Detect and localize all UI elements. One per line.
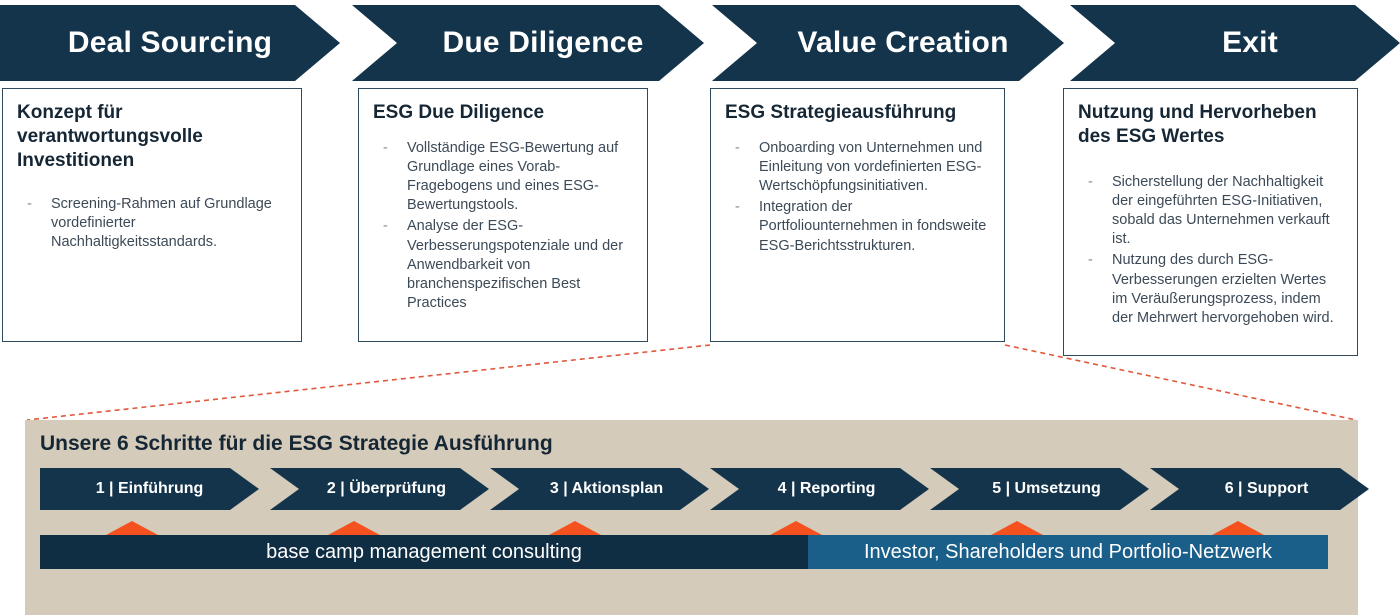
info-box-title: Konzept für verantwortungsvolle Investit…	[17, 101, 287, 173]
step-label: 2 | Überprüfung	[327, 480, 446, 498]
info-box-bullet-list: Sicherstellung der Nachhaltigkeit der ei…	[1078, 173, 1343, 328]
actor-label: base camp management consulting	[266, 541, 582, 564]
step-label: 6 | Support	[1225, 480, 1309, 498]
info-box-title: ESG Strategieausführung	[725, 101, 990, 125]
phase-label: Value Creation	[797, 26, 1008, 60]
phase-label: Deal Sourcing	[68, 26, 272, 60]
info-box-esg-strategieausfuehrung: ESG Strategieausführung Onboarding von U…	[710, 88, 1005, 342]
bullet-item: Integration der Portfoliounternehmen in …	[725, 198, 990, 255]
bullet-item: Analyse der ESG-Verbesserungspotenziale …	[373, 217, 633, 313]
step-label: 1 | Einführung	[96, 480, 204, 498]
bullet-item: Sicherstellung der Nachhaltigkeit der ei…	[1078, 173, 1343, 250]
phase-chevron-value-creation[interactable]: Value Creation	[712, 5, 1064, 81]
step-chevron-1-einfuehrung[interactable]: 1 | Einführung	[40, 468, 259, 510]
info-box-nutzung-esg-wert: Nutzung und Hervorheben des ESG Wertes S…	[1063, 88, 1358, 356]
step-label: 4 | Reporting	[778, 480, 876, 498]
phase-chevron-exit[interactable]: Exit	[1070, 5, 1400, 81]
info-box-esg-due-diligence: ESG Due Diligence Vollständige ESG-Bewer…	[358, 88, 648, 342]
info-box-title: Nutzung und Hervorheben des ESG Wertes	[1078, 101, 1343, 149]
bullet-item: Onboarding von Unternehmen und Einleitun…	[725, 139, 990, 196]
step-label: 5 | Umsetzung	[992, 480, 1101, 498]
actor-base-camp-management-consulting: base camp management consulting	[40, 535, 808, 569]
actor-bar: base camp management consulting Investor…	[40, 535, 1328, 569]
step-label: 3 | Aktionsplan	[550, 480, 663, 498]
bullet-item: Vollständige ESG-Bewertung auf Grundlage…	[373, 139, 633, 216]
phase-label: Exit	[1222, 26, 1278, 60]
info-box-title: ESG Due Diligence	[373, 101, 633, 125]
info-box-bullet-list: Screening-Rahmen auf Grundlage vordefini…	[17, 195, 287, 252]
info-box-bullet-list: Onboarding von Unternehmen und Einleitun…	[725, 139, 990, 256]
info-box-bullet-list: Vollständige ESG-Bewertung auf Grundlage…	[373, 139, 633, 313]
actor-investor-shareholders-netzwerk: Investor, Shareholders und Portfolio-Net…	[808, 535, 1328, 569]
panel-title: Unsere 6 Schritte für die ESG Strategie …	[40, 432, 553, 456]
connector-right-line	[1005, 345, 1356, 420]
bullet-item: Screening-Rahmen auf Grundlage vordefini…	[17, 195, 287, 252]
step-chevron-4-reporting[interactable]: 4 | Reporting	[710, 468, 929, 510]
step-chevron-5-umsetzung[interactable]: 5 | Umsetzung	[930, 468, 1149, 510]
actor-label: Investor, Shareholders und Portfolio-Net…	[864, 541, 1272, 564]
step-chevron-3-aktionsplan[interactable]: 3 | Aktionsplan	[490, 468, 709, 510]
phase-chevron-due-diligence[interactable]: Due Diligence	[352, 5, 704, 81]
phase-chevron-deal-sourcing[interactable]: Deal Sourcing	[0, 5, 340, 81]
esg-steps-panel: Unsere 6 Schritte für die ESG Strategie …	[25, 420, 1358, 615]
step-chevron-6-support[interactable]: 6 | Support	[1150, 468, 1369, 510]
step-chevron-2-ueberpruefung[interactable]: 2 | Überprüfung	[270, 468, 489, 510]
connector-left-line	[27, 345, 710, 420]
phase-label: Due Diligence	[443, 26, 644, 60]
info-box-deal-sourcing: Konzept für verantwortungsvolle Investit…	[2, 88, 302, 342]
bullet-item: Nutzung des durch ESG-Verbesserungen erz…	[1078, 251, 1343, 328]
